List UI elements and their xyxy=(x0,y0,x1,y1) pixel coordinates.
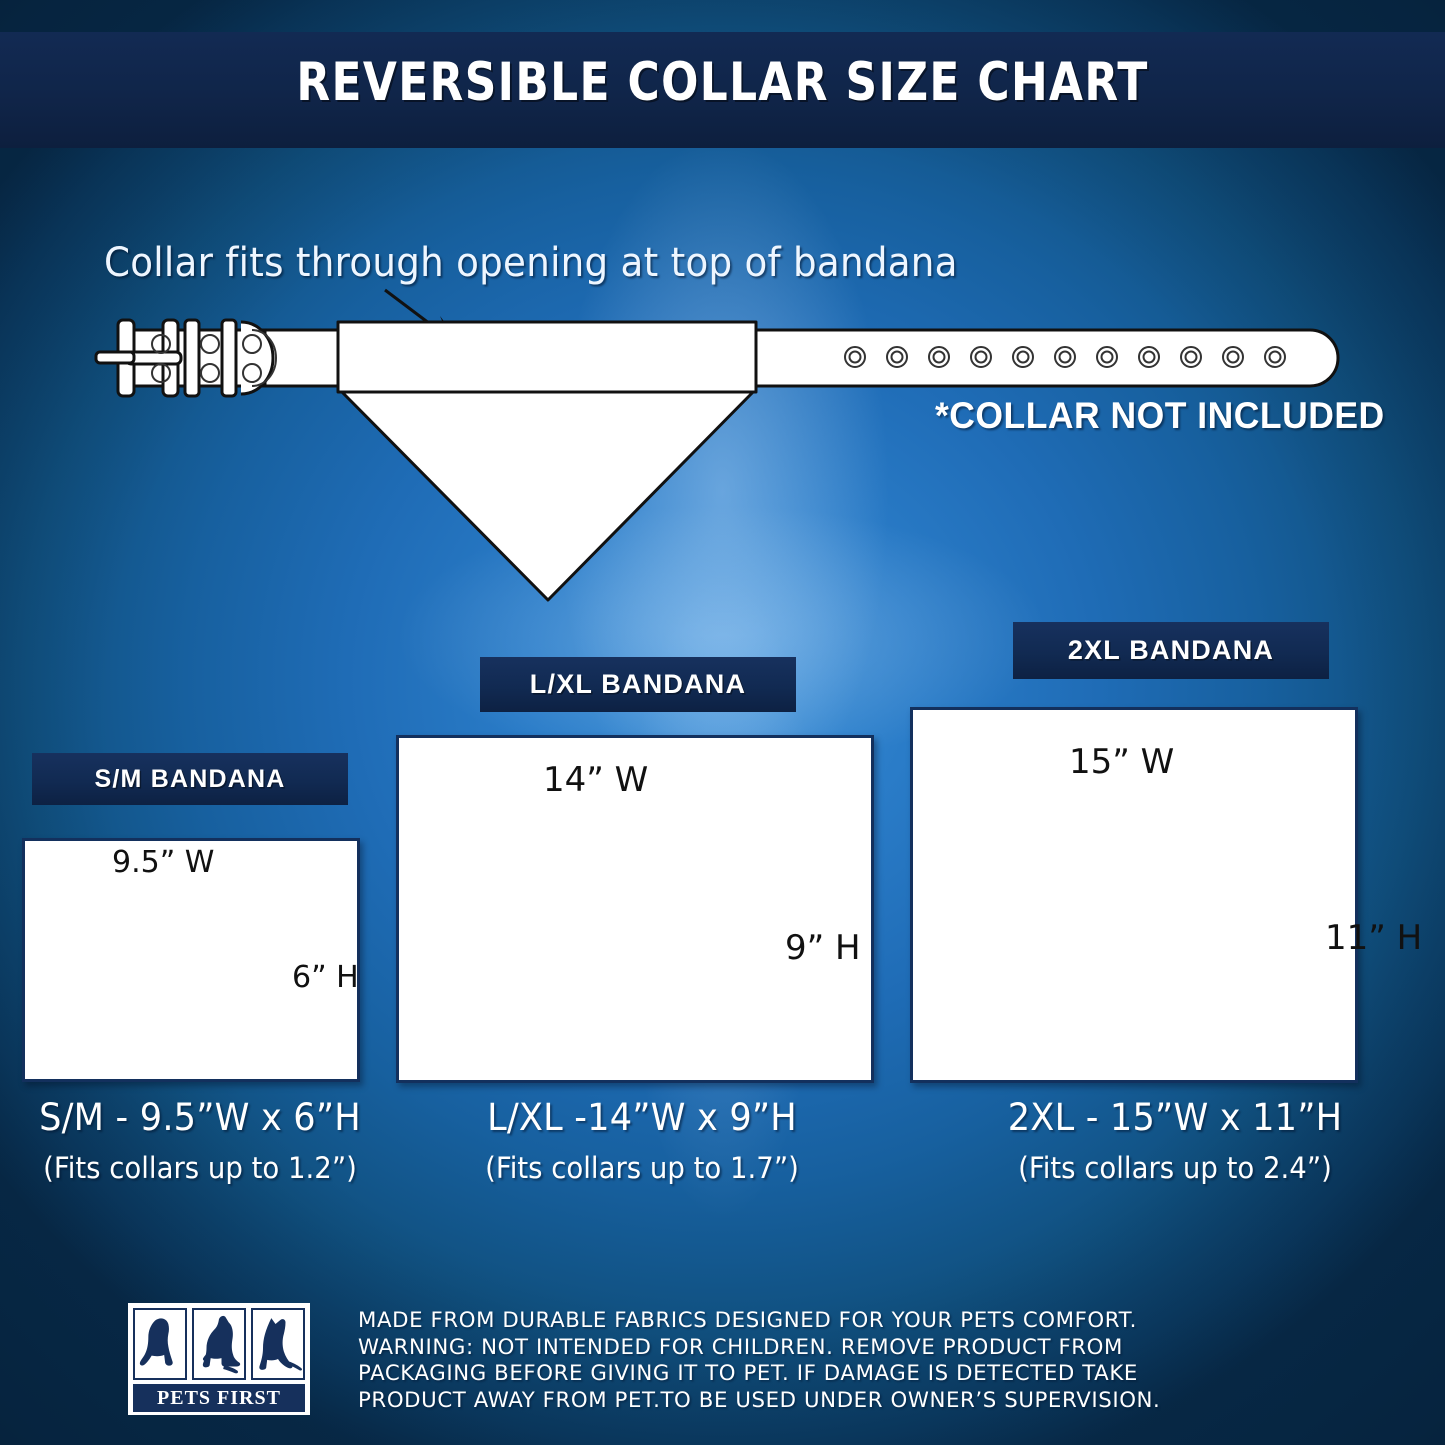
tab-xxl-bandana: 2XL BANDANA xyxy=(1013,622,1329,679)
footer-disclaimer: MADE FROM DURABLE FABRICS DESIGNED FOR Y… xyxy=(358,1308,1358,1414)
dog-howling-icon xyxy=(192,1308,246,1380)
caption-lxl: L/XL -14”W x 9”H (Fits collars up to 1.7… xyxy=(442,1096,842,1185)
sm-height-label: 6” H xyxy=(292,960,359,995)
caption-xxl-main: 2XL - 15”W x 11”H xyxy=(985,1096,1365,1139)
caption-lxl-main: L/XL -14”W x 9”H xyxy=(452,1096,832,1139)
lxl-width-label: 14” W xyxy=(543,760,648,800)
dog-standing-icon xyxy=(251,1308,305,1380)
caption-sm-main: S/M - 9.5”W x 6”H xyxy=(10,1096,390,1139)
disclaimer-line-1: MADE FROM DURABLE FABRICS DESIGNED FOR Y… xyxy=(358,1308,1348,1335)
tab-lxl-label: L/XL BANDANA xyxy=(530,669,746,700)
caption-sm: S/M - 9.5”W x 6”H (Fits collars up to 1.… xyxy=(0,1096,400,1185)
dog-sitting-icon xyxy=(133,1308,187,1380)
size-chart-page: REVERSIBLE COLLAR SIZE CHART Collar fits… xyxy=(0,0,1445,1445)
caption-xxl-sub: (Fits collars up to 2.4”) xyxy=(985,1151,1365,1185)
logo-wordmark: PETS FIRST xyxy=(133,1384,305,1412)
main-bandana-illustration xyxy=(338,322,756,600)
disclaimer-line-2: WARNING: NOT INTENDED FOR CHILDREN. REMO… xyxy=(358,1335,1348,1362)
xxl-width-label: 15” W xyxy=(1069,742,1174,782)
tab-sm-label: S/M BANDANA xyxy=(95,765,286,794)
tab-sm-bandana: S/M BANDANA xyxy=(32,753,348,805)
xxl-height-label: 11” H xyxy=(1325,918,1422,958)
pets-first-logo: PETS FIRST xyxy=(128,1303,310,1415)
tab-lxl-bandana: L/XL BANDANA xyxy=(480,657,796,712)
caption-sm-sub: (Fits collars up to 1.2”) xyxy=(10,1151,390,1185)
sm-width-label: 9.5” W xyxy=(112,845,214,880)
caption-xxl: 2XL - 15”W x 11”H (Fits collars up to 2.… xyxy=(975,1096,1375,1185)
disclaimer-line-4: PRODUCT AWAY FROM PET.TO BE USED UNDER O… xyxy=(358,1388,1348,1415)
tab-xxl-label: 2XL BANDANA xyxy=(1068,635,1274,666)
caption-lxl-sub: (Fits collars up to 1.7”) xyxy=(452,1151,832,1185)
disclaimer-line-3: PACKAGING BEFORE GIVING IT TO PET. IF DA… xyxy=(358,1361,1348,1388)
lxl-height-label: 9” H xyxy=(785,928,861,968)
